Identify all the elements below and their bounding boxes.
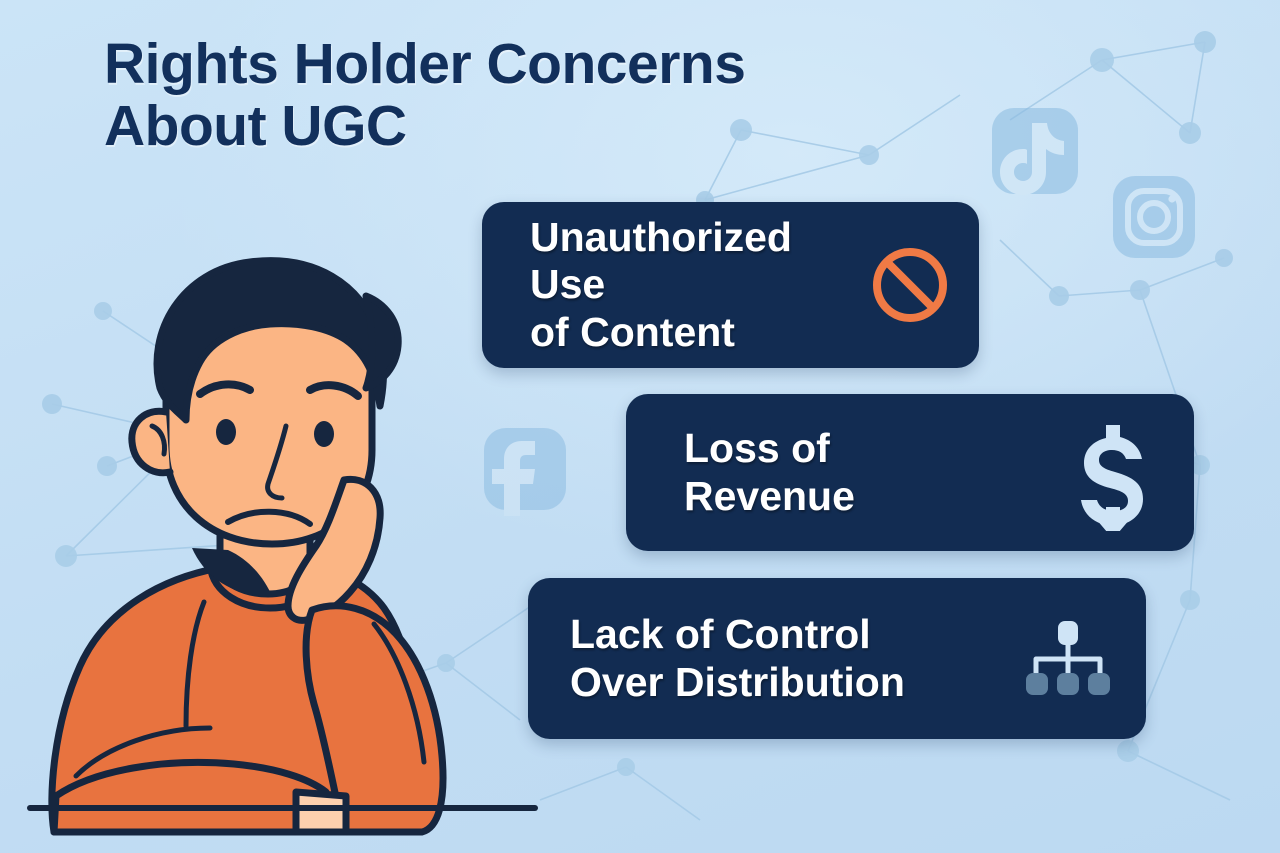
distribution-hierarchy-icon bbox=[1024, 619, 1112, 699]
concern-card-label: Unauthorized Use of Content bbox=[530, 214, 867, 357]
dollar-down-arrow-icon bbox=[1064, 415, 1160, 531]
concern-card-loss-of-revenue[interactable]: Loss of Revenue bbox=[626, 394, 1194, 551]
concern-card-unauthorized-use[interactable]: Unauthorized Use of Content bbox=[482, 202, 979, 368]
concern-card-label: Loss of Revenue bbox=[684, 425, 855, 520]
infographic-canvas: Rights Holder Concerns About UGC Unautho… bbox=[0, 0, 1280, 853]
concern-card-label: Lack of Control Over Distribution bbox=[570, 611, 905, 706]
page-title: Rights Holder Concerns About UGC bbox=[104, 34, 924, 157]
concern-card-lack-of-control[interactable]: Lack of Control Over Distribution bbox=[528, 578, 1146, 739]
prohibition-icon bbox=[867, 242, 953, 328]
